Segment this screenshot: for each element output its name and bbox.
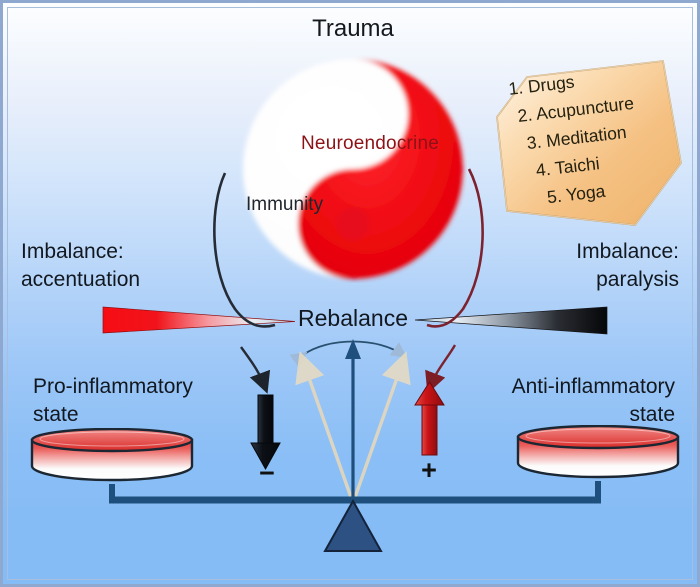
connector-left-curve: [214, 173, 275, 326]
up-arrow-icon-red: [415, 382, 444, 455]
diagram-overlay: [3, 3, 700, 587]
minus-sign-label: −: [251, 458, 283, 489]
balance-beam: [109, 481, 601, 500]
connector-to-down-arrow: [241, 347, 265, 387]
connector-to-up-arrow: [430, 345, 455, 387]
faint-diagonal-arrow-left: [303, 361, 353, 503]
faint-diagonal-arrow-right: [353, 361, 403, 503]
diagram-canvas: Trauma: [0, 0, 700, 587]
triangle-fulcrum-icon: [325, 501, 381, 551]
plus-sign-label: +: [413, 455, 445, 486]
connector-right-curve: [427, 169, 483, 326]
